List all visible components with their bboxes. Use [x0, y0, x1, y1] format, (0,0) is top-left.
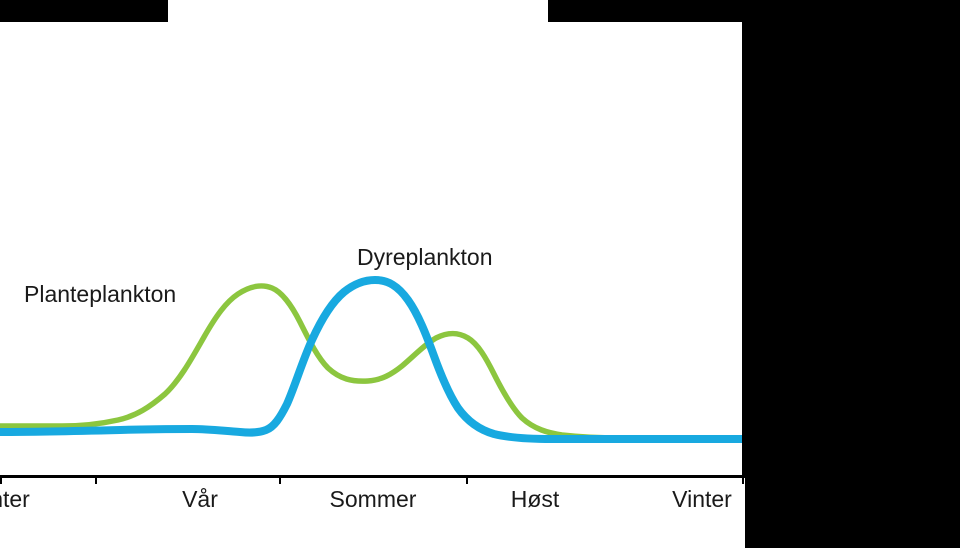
top-right-mask [548, 0, 745, 22]
x-axis-label-4: Vinter [642, 486, 762, 513]
x-axis-label-0: Vinter [0, 486, 60, 513]
chart-panel: Vinter Vår Sommer Høst Vinter Planteplan… [0, 0, 745, 548]
x-axis-tick [95, 475, 97, 484]
x-axis-tick [466, 475, 468, 484]
x-axis-label-1: Vår [140, 486, 260, 513]
x-axis-line [0, 475, 745, 478]
series-label-planteplankton: Planteplankton [24, 281, 176, 308]
x-axis-tick [742, 475, 744, 484]
plot-area: Vinter Vår Sommer Høst Vinter Planteplan… [0, 22, 745, 548]
top-left-mask [0, 0, 168, 22]
series-label-dyreplankton: Dyreplankton [357, 244, 493, 271]
chart-page: Vinter Vår Sommer Høst Vinter Planteplan… [0, 0, 960, 548]
right-axis-line [742, 22, 745, 478]
x-axis-tick [279, 475, 281, 484]
x-axis-tick [0, 475, 2, 484]
x-axis-label-2: Sommer [313, 486, 433, 513]
x-axis-label-3: Høst [475, 486, 595, 513]
series-planteplankton-line [0, 286, 745, 439]
